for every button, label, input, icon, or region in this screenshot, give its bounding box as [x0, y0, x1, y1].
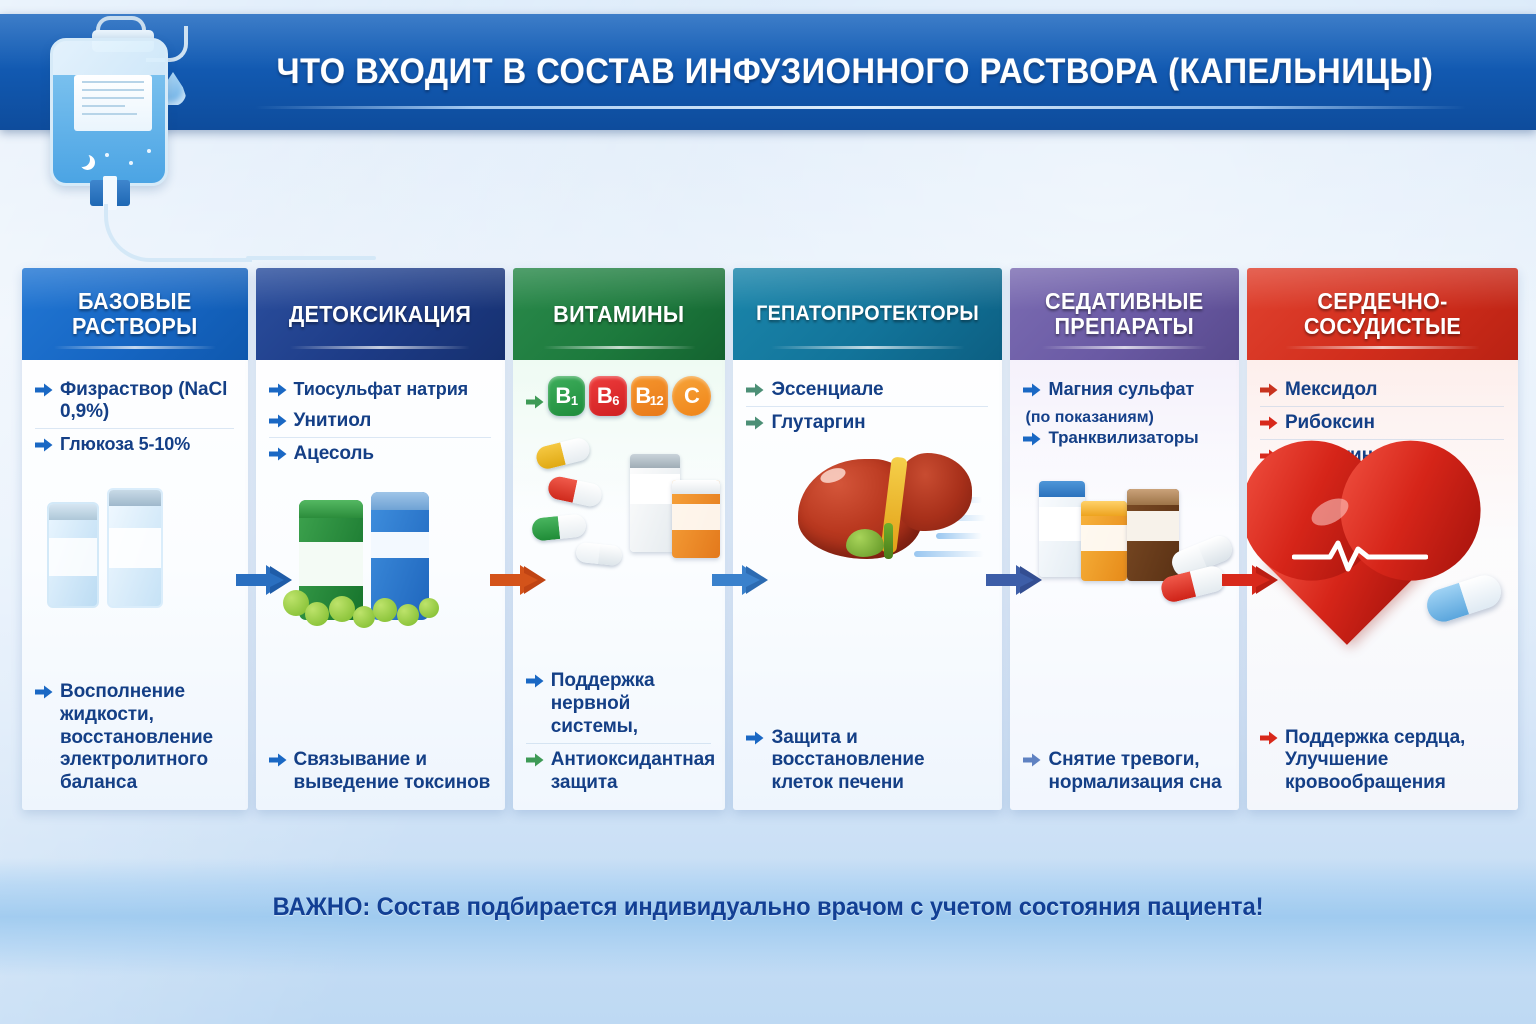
list-item: Транквилизаторы: [1023, 427, 1224, 453]
arrow-hepato-to-sedative: [986, 560, 1060, 600]
list-item: Мексидол: [1260, 374, 1504, 406]
list-item: Рибоксин: [1260, 406, 1504, 439]
list-item: Физраствор (NaCl 0,9%): [35, 374, 234, 428]
arrow-bullet-icon: [269, 447, 287, 461]
benefit-block-cardiovascular: Поддержка сердца, Улучшение кровообращен…: [1260, 722, 1504, 800]
badge-vitamin-b6: B6: [589, 376, 626, 416]
benefit-label: Восполнение жидкости, восстановление эле…: [60, 681, 234, 795]
sedatives-note: (по показаниям): [1023, 405, 1224, 427]
iv-label-icon: [74, 75, 152, 131]
badge-label: C: [684, 383, 699, 409]
heart-icon: [1260, 477, 1504, 627]
card-vitamins[interactable]: ВИТАМИНЫ B1 B6 B12: [513, 268, 726, 810]
arrow-bullet-icon: [1023, 753, 1041, 767]
iv-star-icon: [147, 149, 151, 153]
card-title-base-solutions: БАЗОВЫЕ РАСТВОРЫ: [36, 289, 233, 339]
card-sedatives[interactable]: СЕДАТИВНЫЕ ПРЕПАРАТЫ Магния сульфат (по …: [1010, 268, 1238, 810]
arrow-bullet-icon: [1260, 416, 1278, 430]
footer-note: ВАЖНО: Состав подбирается индивидуально …: [38, 893, 1497, 922]
ecg-line-icon: [1292, 535, 1428, 575]
benefit-item: Поддержка нервной системы,: [526, 665, 712, 743]
card-header-base-solutions: БАЗОВЫЕ РАСТВОРЫ: [22, 268, 248, 360]
vitamin-badges-row: B1 B6 B12 C: [526, 374, 712, 420]
category-cards-row: БАЗОВЫЕ РАСТВОРЫ Физраствор (NaCl 0,9%) …: [22, 268, 1518, 810]
card-header-detoxification: ДЕТОКСИКАЦИЯ: [256, 268, 505, 360]
list-item: Магния сульфат: [1023, 374, 1224, 405]
benefit-label: Поддержка сердца, Улучшение кровообращен…: [1285, 727, 1504, 795]
badge-vitamin-c: C: [672, 376, 711, 416]
saline-vials-icon: [35, 464, 234, 614]
iv-tube-icon: [104, 204, 252, 262]
badge-sub: 1: [571, 393, 578, 408]
badge-label: B: [635, 383, 650, 409]
list-item: Эссенциале: [746, 374, 988, 406]
iv-star-icon: [129, 161, 133, 165]
benefit-label: Антиоксидантная защита: [551, 749, 715, 795]
card-hepatoprotectors[interactable]: ГЕПАТОПРОТЕКТОРЫ Эссенциале Глутаргин: [733, 268, 1002, 810]
list-item-label: Тиосульфат натрия: [294, 379, 469, 400]
arrow-bullet-icon: [269, 383, 287, 397]
arrow-bullet-icon: [269, 414, 287, 428]
arrow-bullet-icon: [526, 753, 544, 767]
page-title: ЧТО ВХОДИТ В СОСТАВ ИНФУЗИОННОГО РАСТВОР…: [255, 52, 1455, 92]
badge-sub: 6: [612, 393, 619, 408]
list-item-label: Глюкоза 5-10%: [60, 434, 190, 455]
benefit-item: Поддержка сердца, Улучшение кровообращен…: [1260, 722, 1504, 800]
benefit-block-hepatoprotectors: Защита и восстановление клеток печени: [746, 722, 988, 800]
card-body-base-solutions: Физраствор (NaCl 0,9%) Глюкоза 5-10%: [22, 360, 248, 810]
card-title-detoxification: ДЕТОКСИКАЦИЯ: [289, 302, 471, 327]
list-item-label: Эссенциале: [771, 379, 883, 401]
iv-tube-run-icon: [246, 256, 376, 260]
benefit-item: Защита и восстановление клеток печени: [746, 722, 988, 800]
list-item-label: Транквилизаторы: [1048, 428, 1198, 448]
badge-vitamin-b1: B1: [548, 376, 585, 416]
arrow-bullet-icon: [526, 395, 544, 409]
list-item: Тиосульфат натрия: [269, 374, 491, 405]
benefit-item: Антиоксидантная защита: [526, 743, 712, 800]
arrow-bullet-icon: [1023, 383, 1041, 397]
infographic-poster: ЧТО ВХОДИТ В СОСТАВ ИНФУЗИОННОГО РАСТВОР…: [0, 0, 1536, 1024]
list-item: Унитиол: [269, 405, 491, 437]
card-title-hepatoprotectors: ГЕПАТОПРОТЕКТОРЫ: [757, 303, 980, 326]
card-header-sedatives: СЕДАТИВНЫЕ ПРЕПАРАТЫ: [1010, 268, 1238, 360]
arrow-bullet-icon: [269, 753, 287, 767]
arrow-detox-to-vitamins: [490, 560, 564, 600]
list-item-label: Физраствор (NaCl 0,9%): [60, 379, 234, 423]
green-blue-bottles-icon: [269, 474, 491, 634]
iv-port-icon: [90, 180, 130, 206]
list-item-label: Магния сульфат: [1048, 379, 1194, 400]
list-item: Ацесоль: [269, 437, 491, 470]
arrow-bullet-icon: [35, 438, 53, 452]
arrow-bullet-icon: [1260, 731, 1278, 745]
badge-vitamin-b12: B12: [631, 376, 668, 416]
benefit-label: Связывание и выведение токсинов: [294, 749, 491, 795]
card-title-sedatives: СЕДАТИВНЫЕ ПРЕПАРАТЫ: [1025, 289, 1225, 339]
iv-bag-icon: [18, 8, 238, 258]
benefit-label: Защита и восстановление клеток печени: [771, 727, 988, 795]
list-item-label: Мексидол: [1285, 379, 1377, 401]
arrow-sedative-to-cardio: [1222, 560, 1296, 600]
list-item: Глюкоза 5-10%: [35, 428, 234, 460]
arrow-bullet-icon: [746, 383, 764, 397]
card-header-hepatoprotectors: ГЕПАТОПРОТЕКТОРЫ: [733, 268, 1002, 360]
list-item: Глутаргин: [746, 406, 988, 439]
list-item-label: Унитиол: [294, 410, 372, 432]
benefit-item: Восполнение жидкости, восстановление эле…: [35, 676, 234, 800]
benefit-item: Связывание и выведение токсинов: [269, 744, 491, 800]
card-header-cardiovascular: СЕРДЕЧНО-СОСУДИСТЫЕ: [1247, 268, 1518, 360]
badge-label: B: [555, 383, 570, 409]
arrow-vitamins-to-hepato: [712, 560, 786, 600]
badge-sub-2: 12: [650, 393, 663, 408]
arrow-bullet-icon: [35, 383, 53, 397]
arrow-bullet-icon: [35, 685, 53, 699]
card-detoxification[interactable]: ДЕТОКСИКАЦИЯ Тиосульфат натрия Унитиол: [256, 268, 505, 810]
card-base-solutions[interactable]: БАЗОВЫЕ РАСТВОРЫ Физраствор (NaCl 0,9%) …: [22, 268, 248, 810]
list-item-label: Глутаргин: [771, 412, 865, 434]
iv-bag-body-icon: [50, 38, 168, 186]
arrow-bullet-icon: [1260, 383, 1278, 397]
benefit-block-detoxification: Связывание и выведение токсинов: [269, 744, 491, 800]
badge-label: B: [597, 383, 612, 409]
card-cardiovascular[interactable]: СЕРДЕЧНО-СОСУДИСТЫЕ Мексидол Рибоксин: [1247, 268, 1518, 810]
benefit-block-sedatives: Снятие тревоги, нормализация сна: [1023, 744, 1224, 800]
card-header-vitamins: ВИТАМИНЫ: [513, 268, 726, 360]
benefit-block-vitamins: Поддержка нервной системы, Антиоксидантн…: [526, 665, 712, 800]
arrow-bullet-icon: [746, 731, 764, 745]
iv-moon-icon: [75, 152, 90, 167]
list-item-label: Ацесоль: [294, 443, 374, 465]
card-title-vitamins: ВИТАМИНЫ: [553, 302, 684, 327]
benefit-block-base-solutions: Восполнение жидкости, восстановление эле…: [35, 676, 234, 800]
benefit-label: Поддержка нервной системы,: [551, 670, 712, 738]
benefit-label: Снятие тревоги, нормализация сна: [1048, 749, 1224, 795]
card-title-cardiovascular: СЕРДЕЧНО-СОСУДИСТЫЕ: [1263, 289, 1503, 339]
arrow-bullet-icon: [1023, 432, 1041, 446]
list-item-label: Рибоксин: [1285, 412, 1375, 434]
arrow-base-to-detox: [236, 560, 310, 600]
arrow-bullet-icon: [526, 674, 544, 688]
iv-star-icon: [105, 153, 109, 157]
benefit-item: Снятие тревоги, нормализация сна: [1023, 744, 1224, 800]
arrow-bullet-icon: [746, 416, 764, 430]
